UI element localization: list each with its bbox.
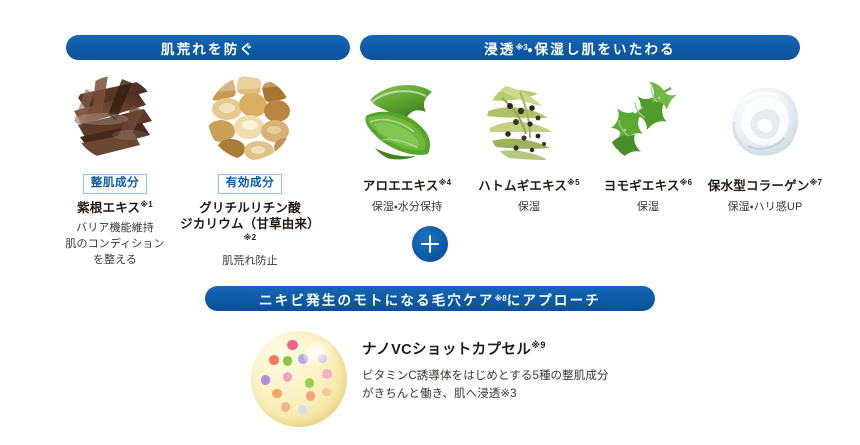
capsule-highlight [300,336,339,370]
banner-bottom-text-before: ニキビ発生のモトになる毛穴ケア [259,289,495,309]
capsule-dot [272,389,282,399]
banner-right-text-before: 浸透 [484,38,515,58]
shikon-root-photo [72,75,158,161]
ingredient-desc-mugwort: 保湿 [592,200,704,216]
ingredient-mugwort: ヨモギエキス※6 保湿 [592,78,704,216]
capsule-description: ビタミンC誘導体をはじめとする5種の整肌成分 がきちんと働き、肌へ浸透※3 [362,368,662,404]
capsule-dot [281,402,291,412]
aloe-leaf-photo [364,78,450,164]
banner-penetrate-moisturize: 浸透※3・保湿し肌をいたわる [360,35,800,60]
ingredient-shikon: 整肌成分 紫根エキス※1 バリア機能維持 肌のコンディションを整える [61,75,169,269]
ingredient-name-collagen: 保水型コラーゲン※7 [700,178,830,195]
banner-left-text: 肌荒れを防ぐ [161,38,255,58]
collagen-gel-photo [722,78,808,164]
banner-pore-care: ニキビ発生のモトになる毛穴ケア※8にアプローチ [205,286,655,311]
capsule-title: ナノVCショットカプセル※9 [362,340,662,359]
licorice-root-photo [207,75,293,161]
ingredient-job-tears: ハトムギエキス※5 保湿 [470,78,588,216]
banner-prevent-rough-skin: 肌荒れを防ぐ [66,35,350,60]
capsule-dot [322,388,331,397]
ingredient-name-mugwort: ヨモギエキス※6 [592,178,704,195]
capsule-dot [283,356,293,366]
banner-right-note: ※3 [516,43,528,52]
banner-bottom-text-after: にアプローチ [507,289,601,309]
capsule-dot [287,340,298,351]
ingredient-desc-shikon: バリア機能維持 肌のコンディションを整える [61,221,169,269]
ingredient-desc-collagen: 保湿・ハリ感UP [700,200,830,216]
ingredient-infographic: 肌荒れを防ぐ 浸透※3・保湿し肌をいたわる [0,0,860,445]
ingredient-name-licorice: グリチルリチン酸 ジカリウム（甘草由来）※2 [180,200,320,250]
banner-right-text-after: ・保湿し肌をいたわる [528,38,676,58]
capsule-dot [283,372,293,382]
ingredient-dipotassium-glycyrrhizinate: 有効成分 グリチルリチン酸 ジカリウム（甘草由来）※2 肌荒れ防止 [180,75,320,270]
ingredient-desc-job-tears: 保湿 [470,200,588,216]
capsule-dot [261,375,271,385]
capsule-dot [306,391,316,401]
mugwort-leaf-photo [605,78,691,164]
ingredient-collagen: 保水型コラーゲン※7 保湿・ハリ感UP [700,78,830,216]
plus-icon [412,226,448,262]
capsule-description-block: ナノVCショットカプセル※9 ビタミンC誘導体をはじめとする5種の整肌成分 がき… [362,340,662,404]
ingredient-name-job-tears: ハトムギエキス※5 [470,178,588,195]
capsule-dot [322,369,332,379]
capsule-dot [298,405,307,414]
ingredient-desc-aloe: 保湿・水分保持 [352,200,462,216]
job-tears-plant-photo [486,78,572,164]
badge-skin-conditioning: 整肌成分 [83,174,147,194]
ingredient-aloe: アロエエキス※4 保湿・水分保持 [352,78,462,216]
ingredient-name-shikon: 紫根エキス※1 [61,200,169,217]
ingredient-name-aloe: アロエエキス※4 [352,178,462,195]
capsule-dot [269,355,279,365]
capsule-sphere [251,331,347,427]
ingredient-desc-licorice: 肌荒れ防止 [180,254,320,270]
banner-bottom-note: ※8 [495,294,507,303]
badge-active-ingredient: 有効成分 [218,174,282,194]
nano-vc-capsule-illustration [251,331,347,427]
capsule-dot [305,378,315,388]
